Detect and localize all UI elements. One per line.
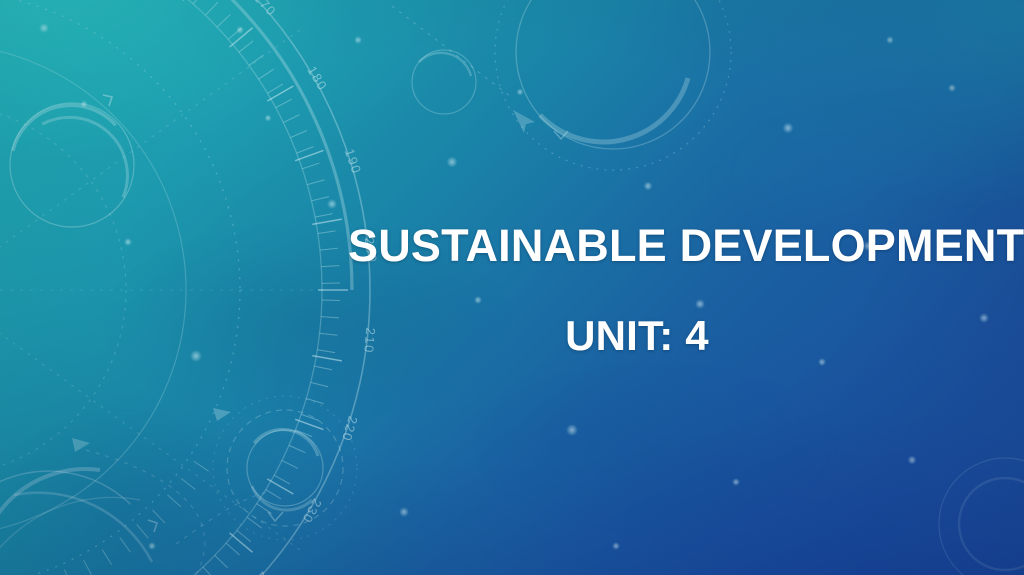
slide-text-layer: SUSTAINABLE DEVELOPMENT UNIT: 4 [0, 0, 1024, 575]
presentation-slide: 140 150 160 170 180 190 200 210 220 230 … [0, 0, 1024, 575]
slide-subtitle: UNIT: 4 [348, 313, 926, 359]
title-container: SUSTAINABLE DEVELOPMENT [348, 222, 926, 271]
slide-title: SUSTAINABLE DEVELOPMENT [348, 222, 926, 271]
subtitle-container: UNIT: 4 [348, 313, 926, 359]
